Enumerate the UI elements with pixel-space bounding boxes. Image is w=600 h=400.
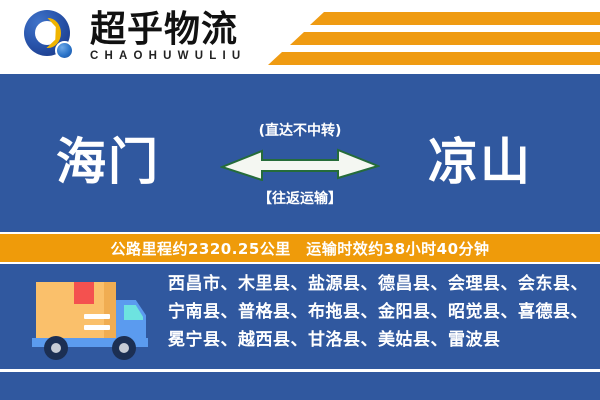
route-info-bar: 公路里程约2320.25公里 运输时效约38小时40分钟 [0,232,600,264]
header-bar: 超乎物流 CHAOHUWULIU [0,0,600,72]
top-divider [0,72,600,74]
origin-city: 海门 [8,136,208,189]
header-stripes-decoration [270,6,600,64]
brand-logo[interactable]: 超乎物流 CHAOHUWULIU [22,8,246,66]
coverage-line-2: 宁南县、普格县、布拖县、金阳县、昭觉县、喜德县、 [168,298,588,326]
arrow-svg [220,147,380,181]
truck-wheel-rear [44,336,68,360]
route-note-bottom: 【往返运输】 [205,188,395,208]
coverage-line-1: 西昌市、木里县、盐源县、德昌县、会理县、会东县、 [168,270,588,298]
brand-name-cn: 超乎物流 [90,12,246,48]
logistics-route-poster: 超乎物流 CHAOHUWULIU 海门 (直达不中转) 【往返运输】 [0,0,600,400]
coverage-area-list: 西昌市、木里县、盐源县、德昌县、会理县、会东县、 宁南县、普格县、布拖县、金阳县… [168,270,588,354]
delivery-truck-icon [26,274,154,360]
coverage-section: 西昌市、木里县、盐源县、德昌县、会理县、会东县、 宁南县、普格县、布拖县、金阳县… [0,264,600,368]
truck-hub-front [119,343,129,353]
logo-dot-shape [55,41,74,60]
truck-hub-rear [51,343,61,353]
truck-wheel-front [112,336,136,360]
stripe-1 [310,12,600,25]
stripe-3 [268,52,600,65]
route-row: 海门 (直达不中转) 【往返运输】 凉山 [0,112,600,232]
truck-cargo-label [74,282,94,304]
truck-stripe-1 [84,314,110,319]
footer-area [0,372,600,400]
route-info-text: 公路里程约2320.25公里 运输时效约38小时40分钟 [110,238,489,259]
route-middle-block: (直达不中转) 【往返运输】 [205,120,395,208]
coverage-line-3: 冕宁县、越西县、甘洛县、美姑县、雷波县 [168,326,588,354]
stripe-2 [290,32,600,45]
destination-city: 凉山 [380,136,580,189]
brand-name-en: CHAOHUWULIU [90,51,246,63]
main-blue-panel: 海门 (直达不中转) 【往返运输】 凉山 公路里程约2320.25公里 运输时效… [0,72,600,400]
route-note-top: (直达不中转) [205,120,395,140]
circle-crescent-logo-icon [22,8,80,66]
truck-stripe-2 [84,325,110,330]
brand-text-block: 超乎物流 CHAOHUWULIU [90,12,246,63]
double-headed-arrow-icon [205,147,395,181]
